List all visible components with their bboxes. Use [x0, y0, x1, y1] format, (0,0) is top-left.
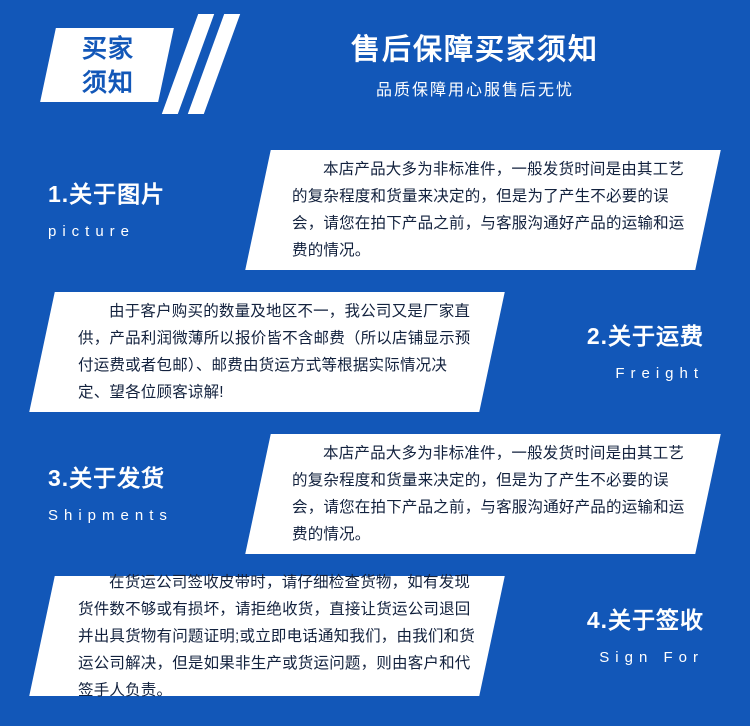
header-badge-line1: 买家 [52, 32, 164, 66]
buyer-notice-page: 买家 须知 售后保障买家须知 品质保障用心服售后无忧 本店产品大多为非标准件，一… [0, 0, 750, 726]
notice-label-en-3: Shipments [48, 504, 248, 528]
page-title: 售后保障买家须知 [240, 30, 710, 70]
notice-text-2: 由于客户购买的数量及地区不一，我公司又是厂家直供，产品利润微薄所以报价皆不含邮费… [78, 298, 478, 406]
notice-text-wrap-4: 在货运公司签收皮带时，请仔细检查货物，如有发现货件数不够或有损坏，请拒绝收货，直… [78, 576, 478, 696]
notice-sections: 本店产品大多为非标准件，一般发货时间是由其工艺的复杂程度和货量来决定的，但是为了… [0, 126, 750, 726]
page-subtitle: 品质保障用心服售后无忧 [240, 80, 710, 102]
header-badge-line2: 须知 [52, 66, 164, 100]
notice-label-cn-2: 2.关于运费 [504, 318, 704, 354]
notice-label-en-2: Freight [504, 362, 704, 386]
notice-label-cn-3: 3.关于发货 [48, 460, 248, 496]
notice-label-en-4: Sign For [504, 646, 704, 670]
notice-label-4: 4.关于签收 Sign For [504, 584, 704, 670]
notice-section-1: 本店产品大多为非标准件，一般发货时间是由其工艺的复杂程度和货量来决定的，但是为了… [42, 150, 708, 270]
notice-label-3: 3.关于发货 Shipments [48, 442, 248, 528]
notice-label-1: 1.关于图片 picture [48, 158, 248, 244]
notice-section-3: 本店产品大多为非标准件，一般发货时间是由其工艺的复杂程度和货量来决定的，但是为了… [42, 434, 708, 554]
notice-text-4: 在货运公司签收皮带时，请仔细检查货物，如有发现货件数不够或有损坏，请拒绝收货，直… [78, 569, 478, 704]
notice-section-2: 由于客户购买的数量及地区不一，我公司又是厂家直供，产品利润微薄所以报价皆不含邮费… [42, 292, 708, 412]
notice-text-wrap-1: 本店产品大多为非标准件，一般发货时间是由其工艺的复杂程度和货量来决定的，但是为了… [292, 150, 692, 270]
notice-text-1: 本店产品大多为非标准件，一般发货时间是由其工艺的复杂程度和货量来决定的，但是为了… [292, 156, 692, 264]
notice-text-3: 本店产品大多为非标准件，一般发货时间是由其工艺的复杂程度和货量来决定的，但是为了… [292, 440, 692, 548]
page-header: 买家 须知 售后保障买家须知 品质保障用心服售后无忧 [0, 0, 750, 126]
notice-text-wrap-2: 由于客户购买的数量及地区不一，我公司又是厂家直供，产品利润微薄所以报价皆不含邮费… [78, 292, 478, 412]
notice-label-cn-4: 4.关于签收 [504, 602, 704, 638]
notice-text-wrap-3: 本店产品大多为非标准件，一般发货时间是由其工艺的复杂程度和货量来决定的，但是为了… [292, 434, 692, 554]
header-titles: 售后保障买家须知 品质保障用心服售后无忧 [240, 30, 710, 102]
notice-label-en-1: picture [48, 220, 248, 244]
notice-label-cn-1: 1.关于图片 [48, 176, 248, 212]
notice-label-2: 2.关于运费 Freight [504, 300, 704, 386]
notice-section-4: 在货运公司签收皮带时，请仔细检查货物，如有发现货件数不够或有损坏，请拒绝收货，直… [42, 576, 708, 696]
header-badge-text: 买家 须知 [52, 31, 164, 101]
